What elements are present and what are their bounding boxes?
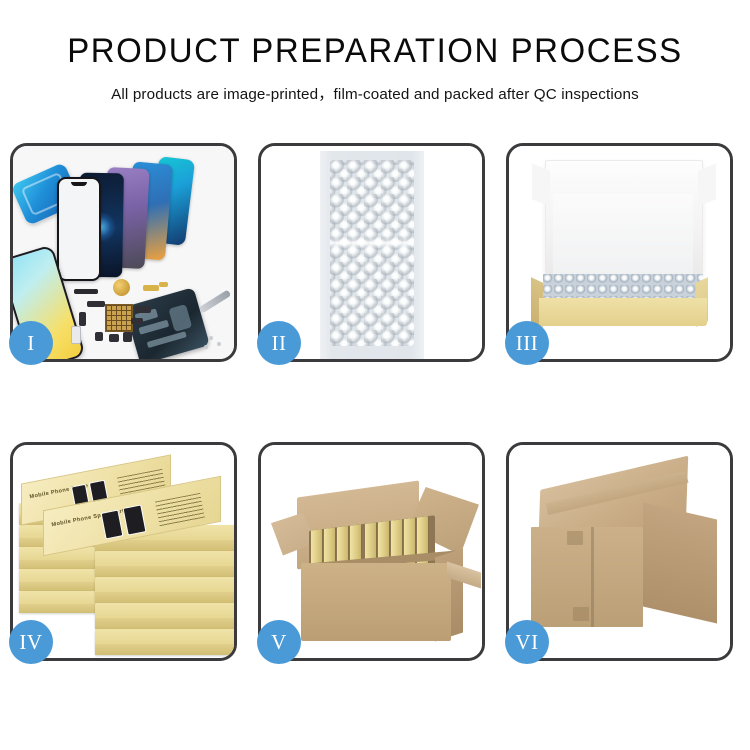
retail-box	[95, 577, 234, 603]
spare-part-connector	[135, 306, 151, 313]
step-badge-1: I	[9, 321, 53, 365]
process-steps-grid: I II III	[10, 143, 740, 661]
carton-seam	[591, 527, 594, 627]
step-panel-3: III	[506, 143, 733, 362]
spare-part-connector	[79, 312, 86, 326]
spare-part-battery	[71, 326, 81, 344]
spare-part-connector	[87, 301, 105, 307]
repair-tweezers	[199, 290, 232, 314]
bubble-wrapped-product	[330, 160, 414, 346]
box-front-kraft	[539, 298, 707, 326]
spare-part-connector	[95, 332, 103, 341]
step-badge-3: III	[505, 321, 549, 365]
step-badge-2: II	[257, 321, 301, 365]
phone-display-white-glass	[57, 177, 101, 281]
board-component	[138, 320, 169, 335]
spare-part-speaker-ring	[113, 279, 130, 296]
box-foam-insert	[553, 194, 693, 276]
step-badge-4: IV	[9, 620, 53, 664]
step-panel-2: II	[258, 143, 485, 362]
spare-part-camera	[123, 332, 132, 342]
board-component	[147, 331, 187, 348]
retail-box	[95, 603, 234, 629]
bubble-texture	[330, 160, 414, 346]
spare-part-connector	[109, 334, 119, 342]
retail-box	[95, 551, 234, 577]
step-panel-4: Mobile Phone Spare Parts Mobile Phone Sp…	[10, 442, 237, 661]
sealed-carton-right-panel	[643, 502, 717, 623]
spare-part-circuit-grid	[105, 304, 133, 332]
spare-part-flex-cable	[143, 285, 159, 291]
spare-part-screw	[209, 336, 213, 340]
spare-part-connector	[131, 318, 143, 324]
page-title: PRODUCT PREPARATION PROCESS	[11, 34, 739, 68]
carton-tab	[573, 607, 589, 621]
box-bubble-contents	[543, 274, 703, 300]
board-component	[168, 304, 192, 332]
step-badge-5: V	[257, 620, 301, 664]
wrap-highlight	[330, 238, 414, 248]
page-subtitle: All products are image-printed，film-coat…	[0, 82, 750, 104]
spare-part-bar	[74, 289, 98, 294]
spare-part-screw	[217, 342, 221, 346]
step-panel-1: I	[10, 143, 237, 362]
retail-box	[95, 629, 234, 655]
step-panel-5: V	[258, 442, 485, 661]
carton-tab	[567, 531, 583, 545]
carton-front-panel	[301, 563, 451, 641]
page-header: PRODUCT PREPARATION PROCESS All products…	[0, 0, 750, 104]
spare-part-flex-cable	[159, 282, 168, 287]
step-badge-6: VI	[505, 620, 549, 664]
spare-part-screw	[204, 345, 208, 349]
step-panel-6: VI	[506, 442, 733, 661]
